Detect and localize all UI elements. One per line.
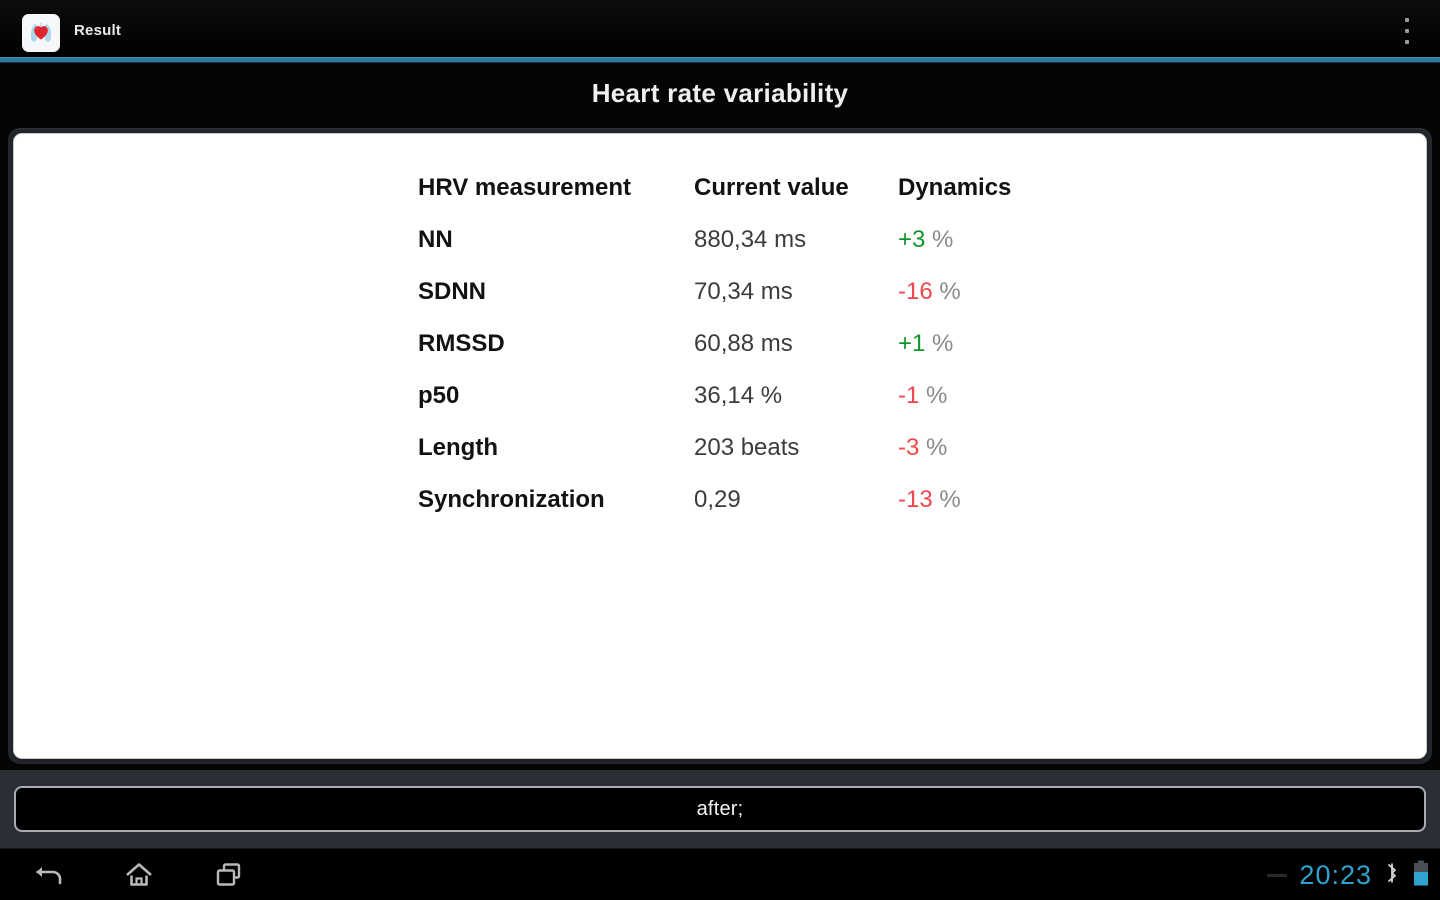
card-frame: HRV measurement Current value Dynamics N…	[8, 128, 1432, 764]
cell-dynamics: +1 %	[898, 318, 1078, 370]
heart-lungs-icon	[22, 14, 60, 52]
after-button[interactable]: after;	[14, 786, 1426, 832]
app-title: Result	[74, 22, 121, 39]
clock: 20:23	[1299, 860, 1372, 891]
dynamics-unit: %	[926, 434, 947, 461]
cell-dynamics: +3 %	[898, 214, 1078, 266]
battery-icon	[1412, 860, 1430, 891]
column-header-measurement: HRV measurement	[418, 162, 694, 214]
cell-dynamics: -1 %	[898, 370, 1078, 422]
cell-current-value: 203 beats	[694, 422, 898, 474]
dynamics-value: -13	[898, 486, 933, 513]
cell-current-value: 0,29	[694, 474, 898, 526]
home-icon[interactable]	[94, 849, 184, 900]
cell-measurement-name: RMSSD	[418, 318, 694, 370]
table-header-row: HRV measurement Current value Dynamics	[418, 162, 1078, 214]
cell-measurement-name: p50	[418, 370, 694, 422]
cell-current-value: 36,14 %	[694, 370, 898, 422]
status-icons: 20:23	[1267, 849, 1430, 900]
accent-divider	[0, 58, 1440, 62]
cell-current-value: 880,34 ms	[694, 214, 898, 266]
cell-dynamics: -16 %	[898, 266, 1078, 318]
overflow-menu-icon[interactable]	[1396, 16, 1418, 46]
cell-measurement-name: Synchronization	[418, 474, 694, 526]
cell-current-value: 70,34 ms	[694, 266, 898, 318]
android-screen: Result Heart rate variability HRV measur…	[0, 0, 1440, 900]
dynamics-unit: %	[926, 382, 947, 409]
dynamics-value: +3	[898, 226, 925, 253]
cell-measurement-name: NN	[418, 214, 694, 266]
table-row: SDNN70,34 ms-16 %	[418, 266, 1078, 318]
column-header-dynamics: Dynamics	[898, 162, 1078, 214]
dynamics-unit: %	[932, 330, 953, 357]
recent-apps-icon[interactable]	[184, 849, 274, 900]
result-card: HRV measurement Current value Dynamics N…	[13, 133, 1427, 759]
column-header-current-value: Current value	[694, 162, 898, 214]
bluetooth-icon	[1384, 862, 1400, 889]
cell-dynamics: -3 %	[898, 422, 1078, 474]
hrv-table: HRV measurement Current value Dynamics N…	[418, 162, 1078, 526]
dynamics-unit: %	[932, 226, 953, 253]
cell-measurement-name: SDNN	[418, 266, 694, 318]
dynamics-value: -1	[898, 382, 919, 409]
cell-dynamics: -13 %	[898, 474, 1078, 526]
signal-dash-icon	[1267, 874, 1287, 877]
table-row: NN880,34 ms+3 %	[418, 214, 1078, 266]
dynamics-value: -16	[898, 278, 933, 305]
dynamics-value: +1	[898, 330, 925, 357]
page-title: Heart rate variability	[0, 78, 1440, 109]
table-row: RMSSD60,88 ms+1 %	[418, 318, 1078, 370]
system-nav-bar: 20:23	[0, 848, 1440, 900]
table-row: p5036,14 %-1 %	[418, 370, 1078, 422]
table-row: Synchronization0,29-13 %	[418, 474, 1078, 526]
dynamics-value: -3	[898, 434, 919, 461]
cell-measurement-name: Length	[418, 422, 694, 474]
table-row: Length203 beats-3 %	[418, 422, 1078, 474]
dynamics-unit: %	[939, 278, 960, 305]
dynamics-unit: %	[939, 486, 960, 513]
cell-current-value: 60,88 ms	[694, 318, 898, 370]
action-bar: Result	[0, 0, 1440, 58]
back-arrow-icon[interactable]	[4, 849, 94, 900]
